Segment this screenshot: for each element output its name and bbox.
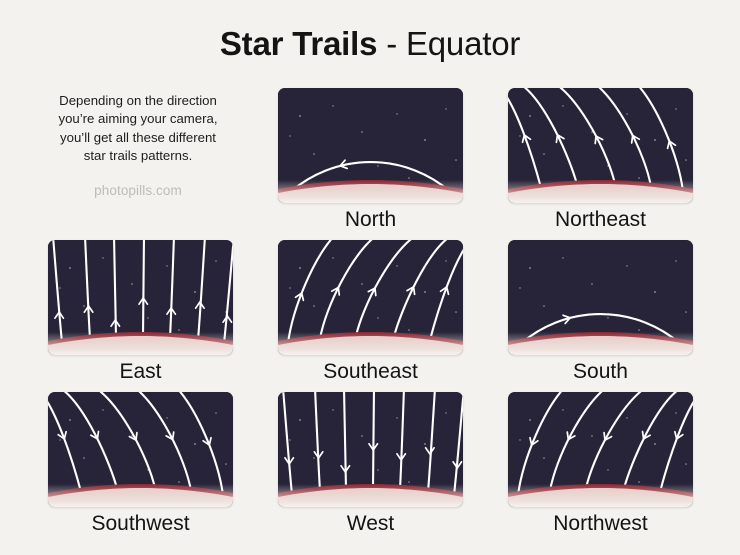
watermark-photopills: photopills.com <box>38 183 238 198</box>
intro-line-1: Depending on the direction <box>38 92 238 110</box>
star-trail-image-southwest <box>48 392 233 507</box>
title-light: - Equator <box>377 25 520 62</box>
panel-label-southwest: Southwest <box>28 510 253 538</box>
panel-label-south: South <box>488 358 713 386</box>
star-trail-image-northwest <box>508 392 693 507</box>
panel-west[interactable]: West <box>278 392 463 507</box>
intro-line-4: star trails patterns. <box>38 147 238 165</box>
intro-text: Depending on the direction you’re aiming… <box>38 92 238 166</box>
infographic-root: Star Trails - Equator Depending on the d… <box>0 0 740 555</box>
panel-label-north: North <box>258 206 483 234</box>
intro-line-2: you’re aiming your camera, <box>38 110 238 128</box>
panel-label-southeast: Southeast <box>258 358 483 386</box>
panel-northwest[interactable]: Northwest <box>508 392 693 507</box>
star-trail-image-east <box>48 240 233 355</box>
panel-east[interactable]: East <box>48 240 233 355</box>
panel-label-east: East <box>28 358 253 386</box>
title-bold: Star Trails <box>220 25 377 62</box>
page-title: Star Trails - Equator <box>0 24 740 64</box>
panel-northeast[interactable]: Northeast <box>508 88 693 203</box>
star-trail-image-west <box>278 392 463 507</box>
panel-southwest[interactable]: Southwest <box>48 392 233 507</box>
panel-label-northwest: Northwest <box>488 510 713 538</box>
star-trail-image-north <box>278 88 463 203</box>
panel-southeast[interactable]: Southeast <box>278 240 463 355</box>
panel-label-west: West <box>258 510 483 538</box>
star-trail-image-south <box>508 240 693 355</box>
star-trail-image-southeast <box>278 240 463 355</box>
panel-north[interactable]: North <box>278 88 463 203</box>
intro-line-3: you’ll get all these different <box>38 129 238 147</box>
panel-label-northeast: Northeast <box>488 206 713 234</box>
star-trail-image-northeast <box>508 88 693 203</box>
panel-south[interactable]: South <box>508 240 693 355</box>
